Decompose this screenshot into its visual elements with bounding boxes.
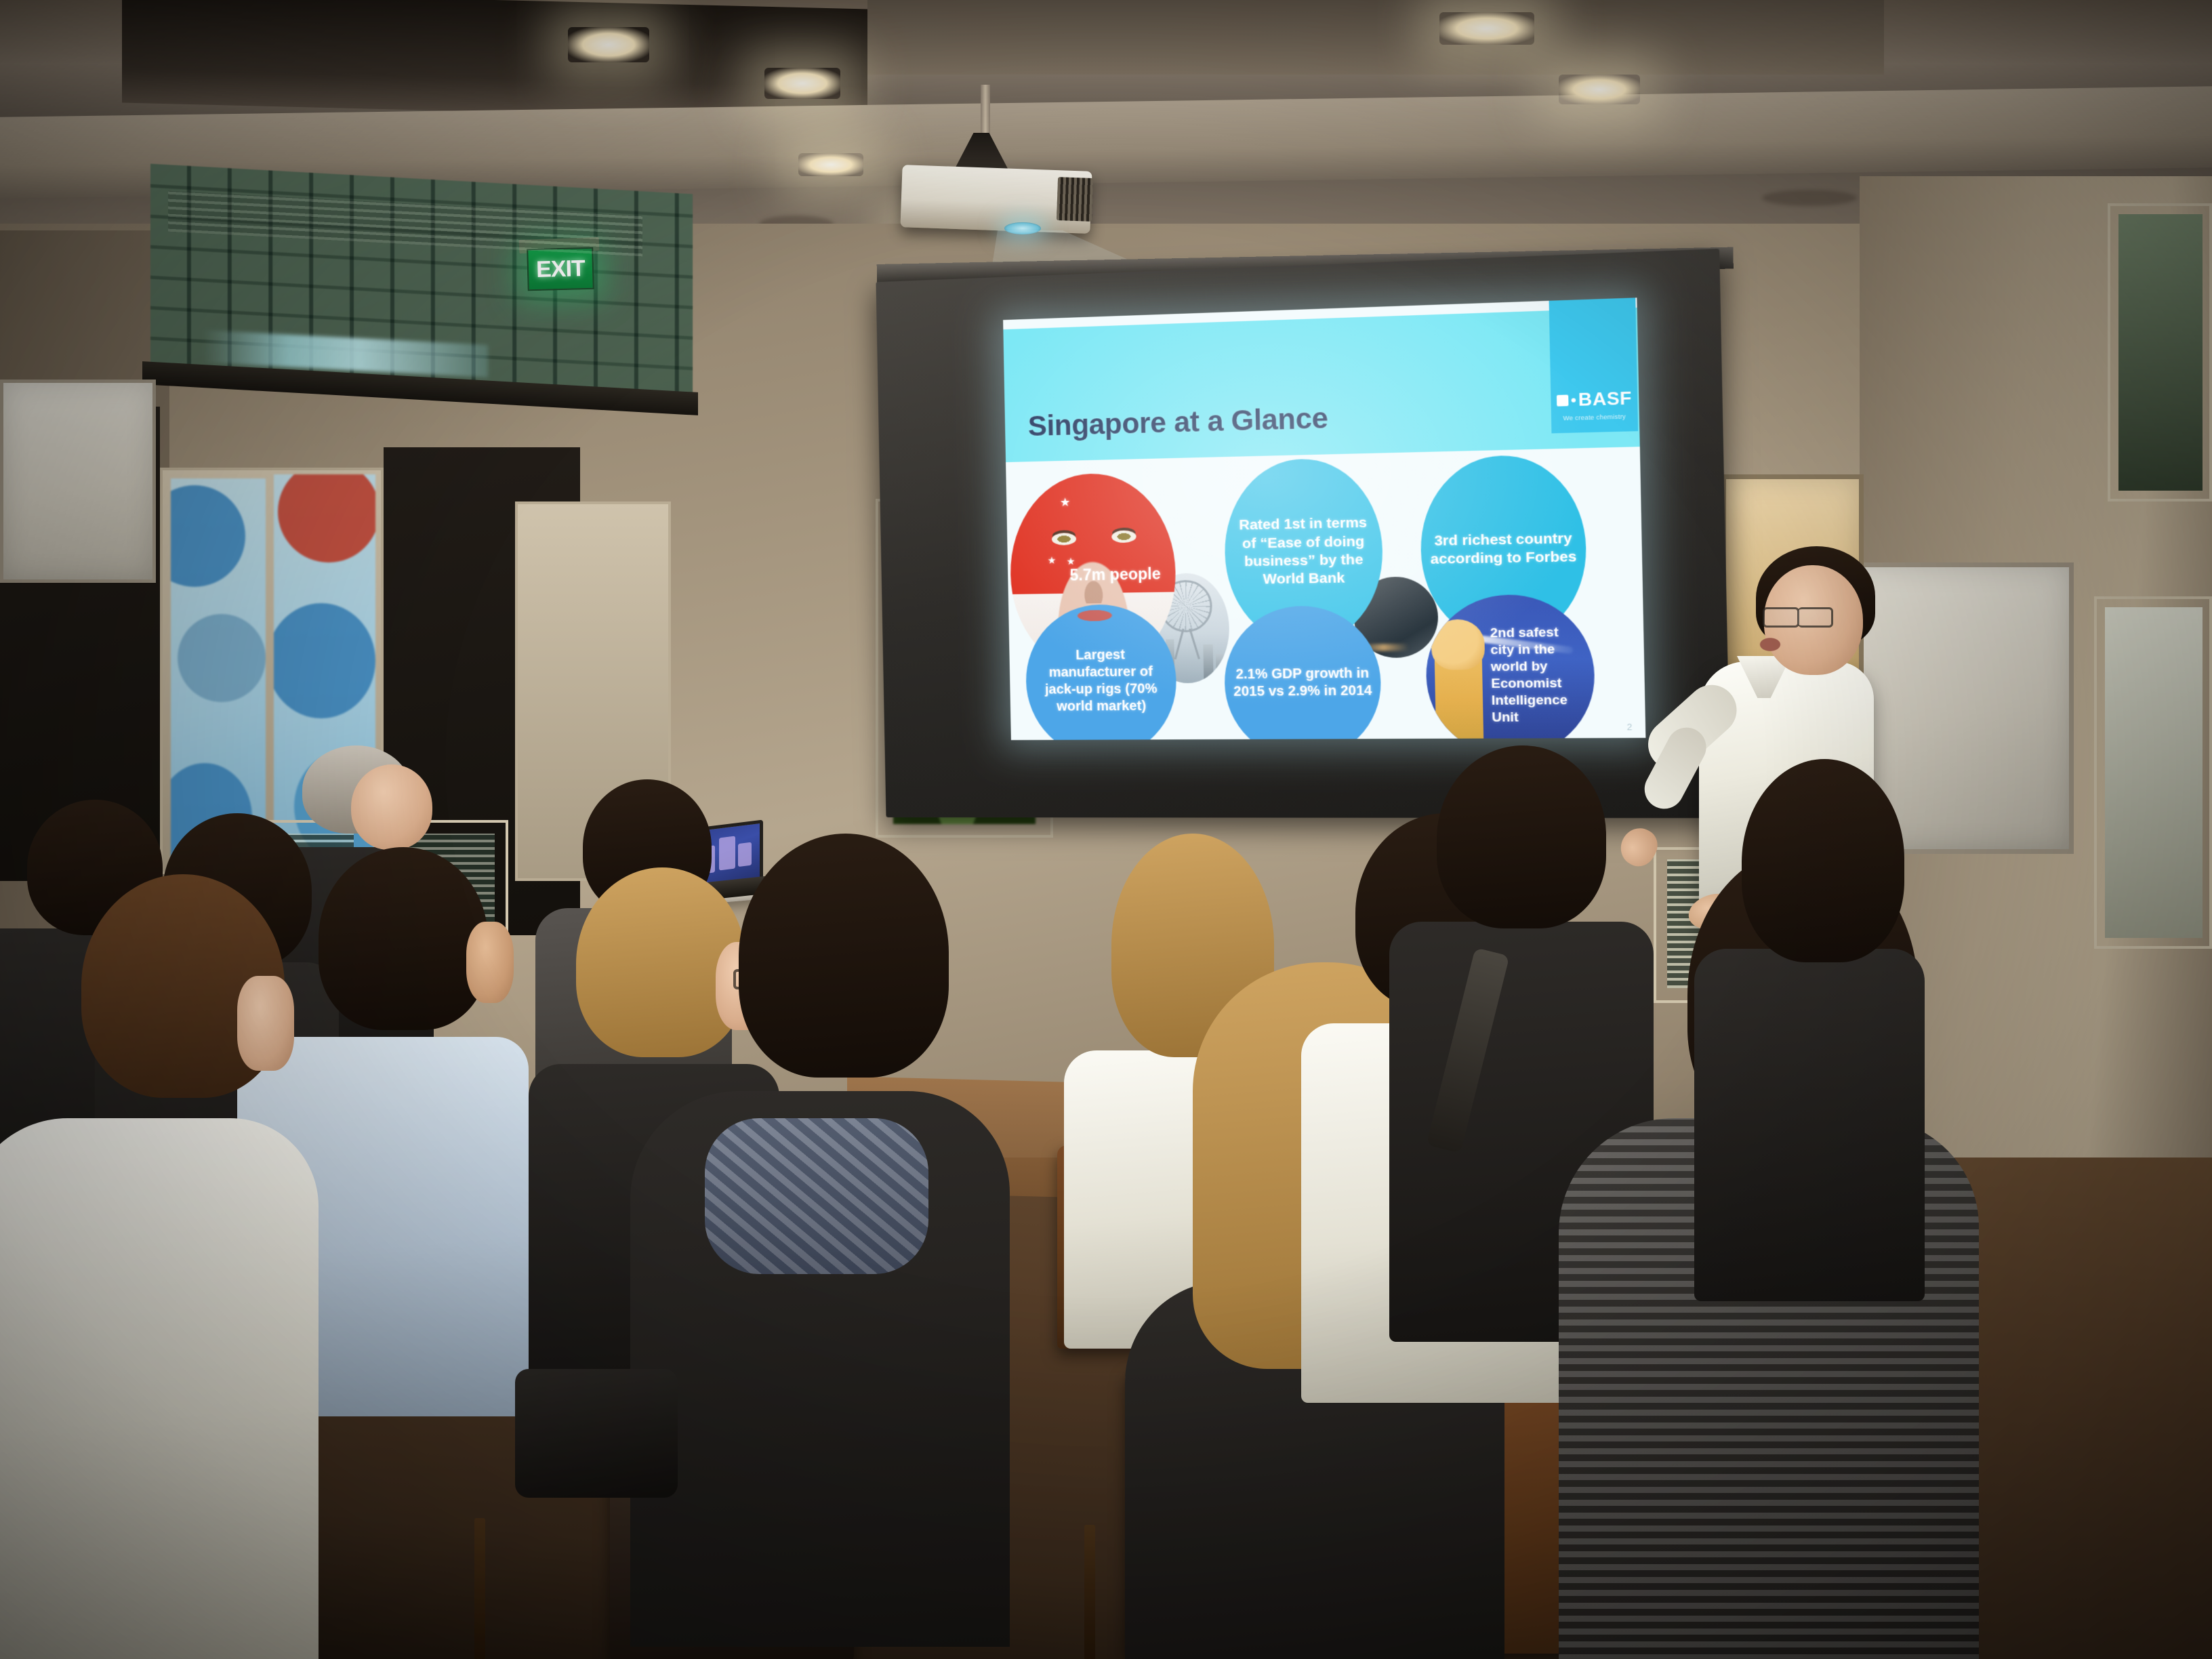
bubble-ease-of-doing-business-text: Rated 1st in terms of “Ease of doing bus… <box>1224 514 1382 590</box>
flag-star-icon: ★ <box>1067 557 1075 565</box>
projection-screen-assembly: Singapore at a Glance BASF We create che… <box>881 282 1681 817</box>
basf-dot-icon <box>1571 398 1576 402</box>
audience-2-hair <box>319 847 488 1030</box>
chair-leg <box>1084 1525 1095 1659</box>
bubble-gdp-growth-text: 2.1% GDP growth in 2015 vs 2.9% in 2014 <box>1225 665 1381 701</box>
presenter-glasses <box>1763 607 1799 628</box>
skyline-building <box>1203 644 1213 679</box>
slide-reflection-left <box>171 478 266 858</box>
audience-5-head <box>351 764 432 850</box>
basf-logo: BASF We create chemistry <box>1549 298 1639 433</box>
far-right-pane <box>2118 214 2203 491</box>
audience-14-hair <box>1742 759 1904 962</box>
bubble-richest-country-text: 3rd richest country according to Forbes <box>1420 529 1586 569</box>
bubble-safest-city-text: 2nd safest city in the world by Economis… <box>1483 624 1595 726</box>
ceiling-light <box>764 68 840 99</box>
audience-12-hair <box>1437 745 1606 928</box>
face-eye <box>1111 530 1136 543</box>
merlion-statue-head <box>1431 619 1485 670</box>
basf-square-icon <box>1557 394 1569 406</box>
ceiling-recess-left <box>122 0 867 121</box>
slide-body: ★ ★ ★ 5.7m people Rated 1st in terms of … <box>1006 447 1645 740</box>
presenter-mouth <box>1759 637 1782 652</box>
skyline-building <box>1216 654 1225 679</box>
basf-logo-mark: BASF <box>1556 387 1632 411</box>
ceiling-light <box>798 153 863 176</box>
basf-tagline: We create chemistry <box>1563 413 1626 422</box>
basf-wordmark: BASF <box>1578 387 1633 411</box>
audience-2-ear-side <box>466 922 514 1003</box>
ferris-wheel-leg <box>1189 628 1200 659</box>
far-right-pane-2 <box>2105 607 2203 938</box>
bubble-population-text: 5.7m people <box>1063 564 1168 586</box>
seminar-room-photo: EXIT Singapore <box>0 0 2212 1659</box>
presenter-glasses <box>1798 607 1833 628</box>
flag-star-icon: ★ <box>1061 497 1070 508</box>
ferris-wheel-leg <box>1174 628 1185 659</box>
bubble-jack-up-rigs-text: Largest manufacturer of jack-up rigs (70… <box>1025 646 1176 716</box>
ceiling-vent <box>1762 190 1857 206</box>
projector-vent <box>1057 177 1093 222</box>
whiteboard-left <box>0 380 156 583</box>
projected-slide: Singapore at a Glance BASF We create che… <box>1003 298 1645 740</box>
audience-1-ear-side <box>237 976 294 1071</box>
audience-1-body <box>0 1118 319 1659</box>
flag-star-icon: ★ <box>1048 556 1055 565</box>
exit-sign: EXIT <box>527 247 594 291</box>
flag-crescent-icon <box>1020 516 1054 575</box>
audience-8-scarf <box>705 1118 928 1274</box>
ceiling-light <box>1559 75 1640 104</box>
floor-bag <box>515 1369 678 1498</box>
audience-14-body <box>1694 949 1925 1301</box>
exit-sign-label: EXIT <box>536 255 586 283</box>
face-eye <box>1052 533 1076 546</box>
ceiling-recess-right <box>867 0 1884 75</box>
projector-lens <box>1004 222 1041 234</box>
chair-leg <box>474 1518 485 1659</box>
ceiling-light <box>1439 12 1534 45</box>
audience-8-hair <box>739 834 949 1078</box>
ceiling-light <box>568 27 649 62</box>
